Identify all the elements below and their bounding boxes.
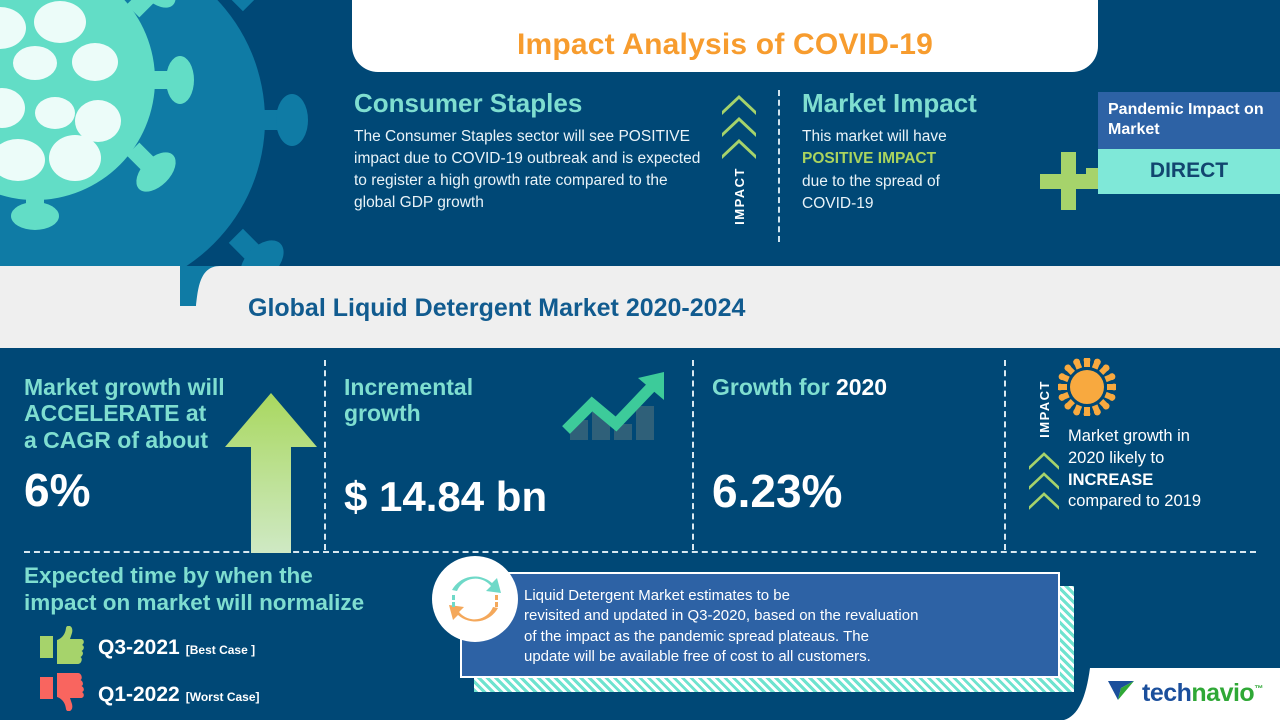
consumer-staples-body: The Consumer Staples sector will see POS… (354, 126, 704, 214)
market-impact-line2: due to the spread of (802, 173, 940, 190)
note-line1: Liquid Detergent Market estimates to be (524, 587, 790, 604)
growth2020-value: 6.23% (712, 464, 992, 518)
logo-notch-decor (1064, 668, 1090, 720)
technavio-arrow-icon (1106, 678, 1136, 709)
growth2020-heading: Growth for (712, 374, 836, 400)
refresh-cycle-icon (432, 556, 518, 642)
chevron-up-icon (722, 95, 756, 159)
green-accent-tab (1086, 168, 1098, 186)
pandemic-impact-box: Pandemic Impact on Market DIRECT (1098, 92, 1280, 194)
vertical-divider-top (778, 90, 780, 242)
up-arrow-icon (225, 393, 317, 553)
infographic-root: Impact Analysis of COVID-19 Consumer Sta… (0, 0, 1280, 720)
right-note-line1: Market growth in (1068, 427, 1190, 445)
incremental-heading-line1: Incremental (344, 374, 473, 400)
pandemic-impact-heading: Pandemic Impact on Market (1098, 92, 1280, 149)
market-impact-line3: COVID-19 (802, 195, 874, 212)
expected-heading-line1: Expected time by when the (24, 563, 313, 588)
vertical-divider-1 (324, 360, 326, 550)
consumer-staples-heading: Consumer Staples (354, 88, 704, 119)
logo-text-a: tech (1142, 679, 1191, 707)
right-note-emphasis: INCREASE (1068, 471, 1153, 489)
coronavirus-icon (0, 0, 360, 266)
note-line4: update will be available free of cost to… (524, 648, 871, 665)
logo-tm: ™ (1254, 684, 1263, 694)
market-impact-emphasis: POSITIVE IMPACT (802, 150, 936, 167)
band-curve-decor (180, 266, 260, 306)
cagr-heading-line2: ACCELERATE at (24, 400, 206, 426)
page-title: Impact Analysis of COVID-19 (352, 0, 1098, 72)
note-line3: of the impact as the pandemic spread pla… (524, 628, 869, 645)
cagr-heading-line1: Market growth will (24, 374, 225, 400)
page-title-text: Impact Analysis of COVID-19 (517, 28, 933, 62)
note-text: Liquid Detergent Market estimates to be … (460, 572, 1060, 678)
best-case-label: Q3-2021 (98, 636, 180, 659)
consumer-staples-block: Consumer Staples The Consumer Staples se… (354, 88, 704, 214)
market-impact-line1: This market will have (802, 128, 947, 145)
right-note-line2: 2020 likely to (1068, 449, 1164, 467)
market-impact-block: Market Impact This market will have POSI… (802, 88, 1032, 216)
pandemic-impact-value: DIRECT (1098, 149, 1280, 194)
update-note-card: Liquid Detergent Market estimates to be … (460, 572, 1060, 678)
right-note-line3: compared to 2019 (1068, 492, 1201, 510)
impact-label: IMPACT (732, 167, 747, 225)
worst-case-row: Q1-2022[Worst Case] (24, 673, 424, 716)
incremental-value: $ 14.84 bn (344, 473, 674, 521)
stats-section: Market growth will ACCELERATE at a CAGR … (0, 348, 1280, 720)
best-case-tag: [Best Case ] (186, 643, 255, 657)
horizontal-divider (24, 551, 1256, 553)
impact-rail-top: IMPACT (716, 95, 762, 245)
expected-heading-line2: impact on market will normalize (24, 590, 364, 615)
incremental-heading-line2: growth (344, 400, 421, 426)
stat-growth-2020: Growth for 2020 6.23% (712, 374, 992, 518)
note-line2: revisited and updated in Q3-2020, based … (524, 607, 918, 624)
impact-label-right: IMPACT (1037, 380, 1052, 438)
report-title: Global Liquid Detergent Market 2020-2024 (248, 294, 745, 323)
best-case-row: Q3-2021[Best Case ] (24, 626, 424, 669)
thumbs-up-icon (40, 626, 84, 669)
thumbs-down-icon (40, 673, 84, 716)
top-section: Impact Analysis of COVID-19 Consumer Sta… (0, 0, 1280, 266)
impact-rail-right: IMPACT (1026, 378, 1062, 548)
virus-sun-icon (1058, 358, 1116, 416)
worst-case-tag: [Worst Case] (186, 690, 260, 704)
market-impact-heading: Market Impact (802, 88, 1032, 119)
worst-case-label: Q1-2022 (98, 683, 180, 706)
growth-chart-icon (560, 368, 668, 442)
expected-time-block: Expected time by when the impact on mark… (24, 562, 424, 720)
cagr-heading-line3: a CAGR of about (24, 427, 208, 453)
logo-text-b: navio (1191, 679, 1254, 707)
growth2020-year: 2020 (836, 374, 887, 400)
vertical-divider-2 (692, 360, 694, 550)
right-impact-note: Market growth in 2020 likely to INCREASE… (1068, 426, 1276, 513)
technavio-logo[interactable]: technavio™ (1090, 668, 1280, 720)
chevron-up-icon (1029, 452, 1059, 510)
vertical-divider-3 (1004, 360, 1006, 550)
